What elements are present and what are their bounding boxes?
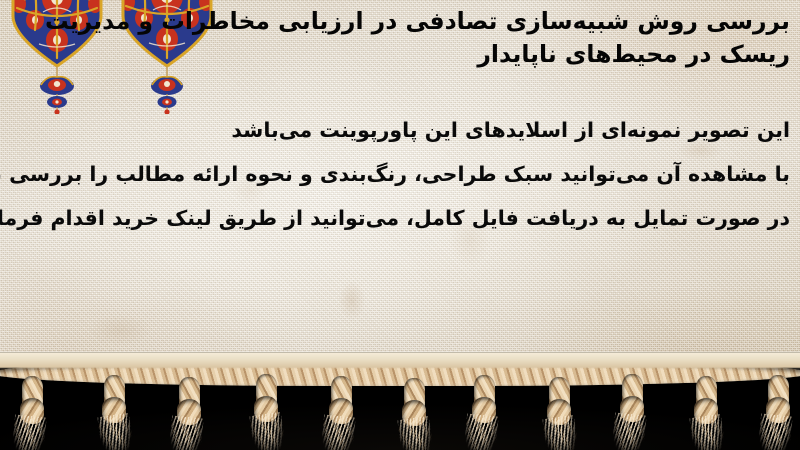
fringe-tassel — [764, 375, 798, 450]
fringe-tassel — [175, 377, 209, 450]
fringe-tassel — [618, 374, 652, 450]
fringe-tassel — [100, 375, 134, 450]
fringe-tassel — [400, 378, 434, 450]
fringe-tassel — [18, 376, 52, 450]
title-line-1: بررسی روش شبیه‌سازی تصادفی در ارزیابی مخ… — [230, 5, 790, 38]
slide-body: این تصویر نمونه‌ای از اسلایدهای این پاور… — [90, 108, 790, 240]
fringe-tassel — [692, 376, 726, 450]
fringe-tassel — [545, 377, 579, 450]
fringe-tassel — [327, 376, 361, 450]
fringe-tassel — [252, 374, 286, 450]
slide-canvas: بررسی روش شبیه‌سازی تصادفی در ارزیابی مخ… — [0, 0, 800, 450]
fringe-tassel — [470, 375, 504, 450]
body-line-1: این تصویر نمونه‌ای از اسلایدهای این پاور… — [90, 108, 790, 152]
fringe-rope-edge — [0, 352, 800, 368]
body-line-3: در صورت تمایل به دریافت فایل کامل، می‌تو… — [90, 196, 790, 240]
slide-text-layer: بررسی روش شبیه‌سازی تصادفی در ارزیابی مخ… — [0, 0, 800, 380]
carpet-fringe-band — [0, 352, 800, 450]
slide-title: بررسی روش شبیه‌سازی تصادفی در ارزیابی مخ… — [230, 5, 790, 71]
title-line-2: ریسک در محیط‌های ناپایدار — [230, 38, 790, 71]
body-line-2: با مشاهده آن می‌توانید سبک طراحی، رنگ‌بن… — [90, 152, 790, 196]
